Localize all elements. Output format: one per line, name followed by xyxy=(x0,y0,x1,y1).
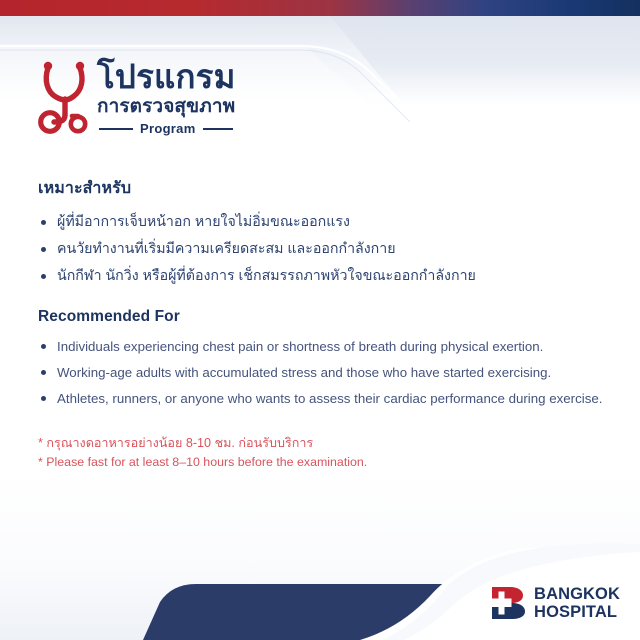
content-area: เหมาะสำหรับ ผู้ที่มีอาการเจ็บหน้าอก หายใ… xyxy=(38,176,634,472)
footnote-english: * Please fast for at least 8–10 hours be… xyxy=(38,453,634,472)
rule-left xyxy=(99,128,133,130)
program-subtitle-thai: การตรวจสุขภาพ xyxy=(97,95,236,118)
brand-line-1: BANGKOK xyxy=(534,586,620,603)
bangkok-hospital-logo: BANGKOK HOSPITAL xyxy=(490,586,620,620)
thai-bullet-list: ผู้ที่มีอาการเจ็บหน้าอก หายใจไม่อิ่มขณะอ… xyxy=(38,212,634,286)
program-label-row: Program xyxy=(97,121,236,136)
english-section: Recommended For Individuals experiencing… xyxy=(38,308,634,408)
list-item: ผู้ที่มีอาการเจ็บหน้าอก หายใจไม่อิ่มขณะอ… xyxy=(38,212,634,232)
footnotes: * กรุณางดอาหารอย่างน้อย 8-10 ชม. ก่อนรับ… xyxy=(38,434,634,472)
program-logo-lockup: โปรแกรม การตรวจสุขภาพ Program xyxy=(38,58,236,138)
program-label-en: Program xyxy=(140,121,196,136)
list-item: Athletes, runners, or anyone who wants t… xyxy=(38,389,634,408)
footer-decoration xyxy=(0,510,640,640)
program-logo-text: โปรแกรม การตรวจสุขภาพ Program xyxy=(97,58,236,136)
rule-right xyxy=(203,128,233,130)
bangkok-hospital-cross-b-mark xyxy=(490,586,526,620)
thai-section-heading: เหมาะสำหรับ xyxy=(38,176,634,201)
list-item: Working-age adults with accumulated stre… xyxy=(38,363,634,382)
english-section-heading: Recommended For xyxy=(38,308,634,326)
list-item: คนวัยทำงานที่เริ่มมีความเครียดสะสม และออ… xyxy=(38,239,634,259)
list-item: Individuals experiencing chest pain or s… xyxy=(38,337,634,356)
health-check-program-card: โปรแกรม การตรวจสุขภาพ Program เหมาะสำหรั… xyxy=(0,0,640,640)
english-bullet-list: Individuals experiencing chest pain or s… xyxy=(38,337,634,408)
footnote-thai: * กรุณางดอาหารอย่างน้อย 8-10 ชม. ก่อนรับ… xyxy=(38,434,634,453)
bangkok-hospital-wordmark: BANGKOK HOSPITAL xyxy=(534,586,620,620)
list-item: นักกีฬา นักวิ่ง หรือผู้ที่ต้องการ เช็กสม… xyxy=(38,266,634,286)
stethoscope-icon xyxy=(38,58,90,138)
program-title-thai: โปรแกรม xyxy=(97,60,236,94)
brand-line-2: HOSPITAL xyxy=(534,604,620,621)
top-accent-bar xyxy=(0,0,640,16)
